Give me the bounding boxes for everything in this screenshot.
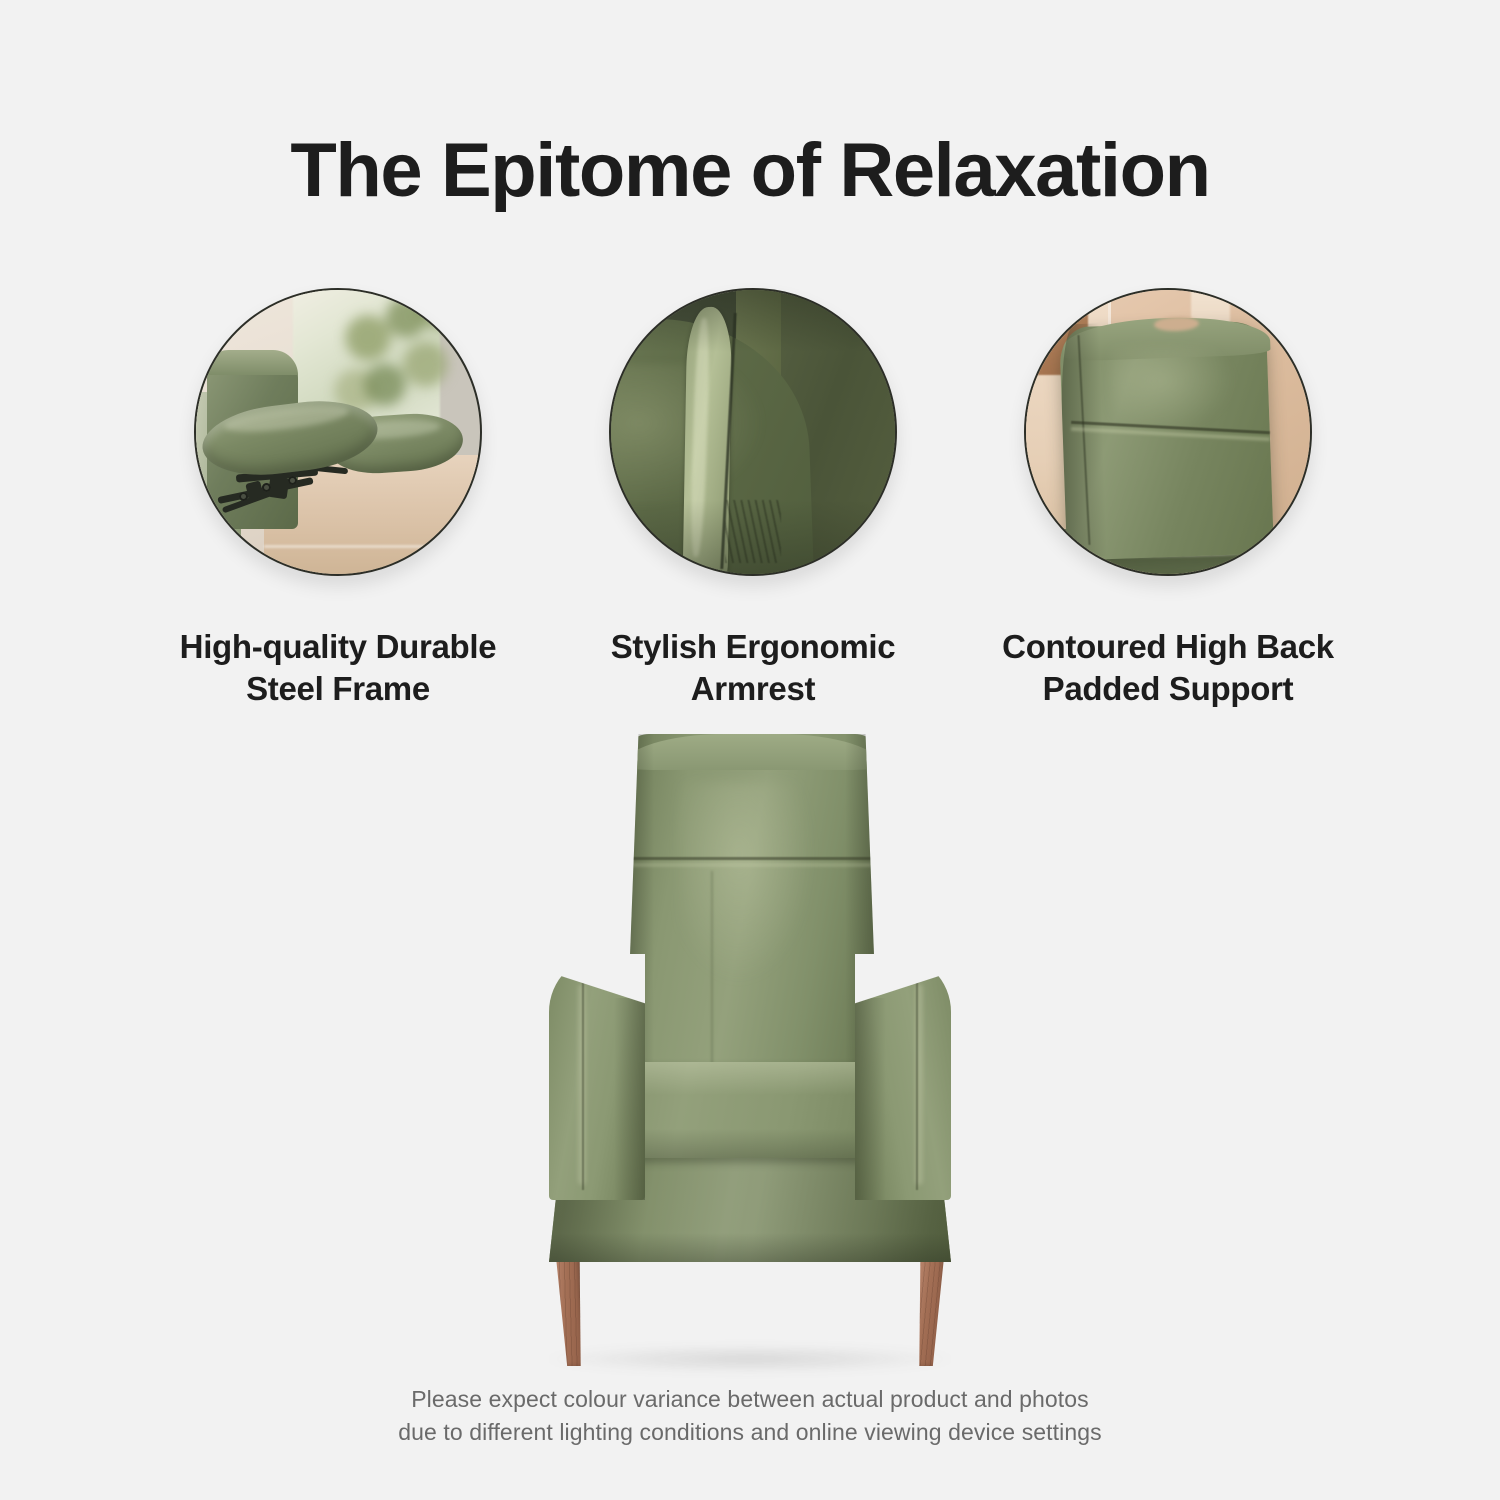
page-title: The Epitome of Relaxation (0, 133, 1500, 209)
feature-item-high-back: Contoured High Back Padded Support (961, 288, 1376, 710)
chair-floor-shadow (545, 1346, 955, 1372)
feature-label-line-2: Armrest (691, 670, 815, 707)
disclaimer-line-2: due to different lighting conditions and… (398, 1419, 1102, 1445)
feature-label-high-back: Contoured High Back Padded Support (953, 626, 1383, 710)
high-back-cushion-closeup-photo (1024, 288, 1312, 576)
feature-label-line-1: Contoured High Back (1002, 628, 1334, 665)
colour-variance-disclaimer: Please expect colour variance between ac… (0, 1383, 1500, 1448)
disclaimer-line-1: Please expect colour variance between ac… (411, 1386, 1089, 1412)
feature-highlights-row: High-quality Durable Steel Frame (0, 288, 1500, 710)
armrest-closeup-velvet-piping-photo (609, 288, 897, 576)
feature-label-armrest: Stylish Ergonomic Armrest (538, 626, 968, 710)
green-velvet-recliner-armchair-front-view (505, 726, 995, 1366)
hero-product-area (0, 726, 1500, 1366)
feature-label-line-2: Steel Frame (246, 670, 430, 707)
feature-item-steel-frame: High-quality Durable Steel Frame (131, 288, 546, 710)
feature-label-line-1: Stylish Ergonomic (611, 628, 896, 665)
recliner-footrest-steel-mechanism-photo (194, 288, 482, 576)
feature-label-line-1: High-quality Durable (180, 628, 497, 665)
feature-label-steel-frame: High-quality Durable Steel Frame (123, 626, 553, 710)
chair-armrest-right (855, 954, 951, 1200)
feature-label-line-2: Padded Support (1043, 670, 1294, 707)
product-feature-infographic: The Epitome of Relaxation (0, 0, 1500, 1500)
feature-item-armrest: Stylish Ergonomic Armrest (546, 288, 961, 710)
chair-armrest-left (549, 954, 645, 1200)
